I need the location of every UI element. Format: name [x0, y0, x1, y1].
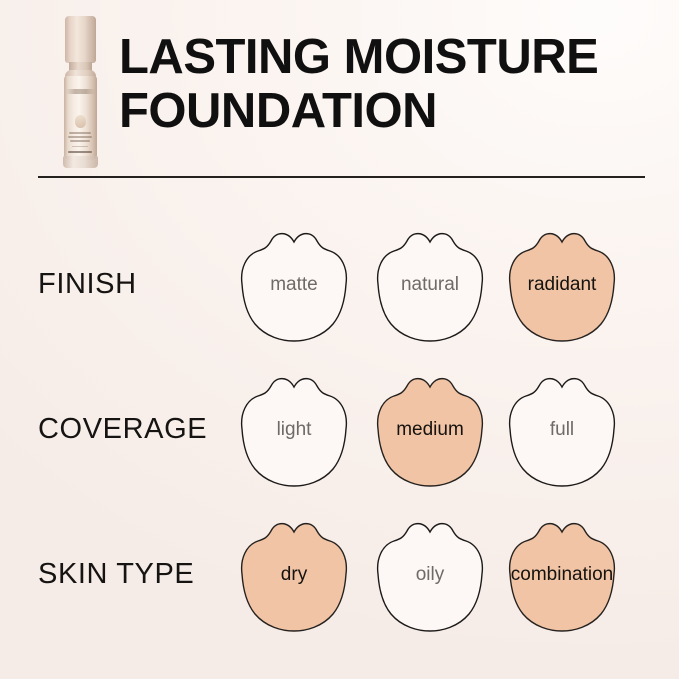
attribute-row-finish: FINISH matte natural radidant: [0, 212, 679, 357]
header: LASTING MOISTURE FOUNDATION: [0, 0, 679, 190]
option-group-finish: matte natural radidant: [238, 212, 679, 357]
product-attributes-infographic: LASTING MOISTURE FOUNDATION FINISH matte…: [0, 0, 679, 679]
header-divider: [38, 176, 645, 178]
bottle-cap: [65, 16, 96, 63]
option-label: combination: [492, 519, 632, 631]
option-skin-type-dry[interactable]: dry: [238, 519, 350, 631]
option-coverage-full[interactable]: full: [506, 374, 618, 486]
option-label: medium: [360, 374, 500, 486]
bottle-label-line: [69, 132, 91, 134]
option-group-coverage: light medium full: [238, 357, 679, 502]
bottle-label-line: [68, 136, 92, 138]
bottle-base: [63, 156, 98, 168]
bottle-seal-emblem: [75, 115, 86, 128]
option-label: natural: [360, 229, 500, 341]
row-label-finish: FINISH: [38, 212, 137, 357]
attribute-row-skin-type: SKIN TYPE dry oily combination: [0, 502, 679, 647]
option-label: oily: [360, 519, 500, 631]
option-coverage-medium[interactable]: medium: [374, 374, 486, 486]
option-label: radidant: [492, 229, 632, 341]
option-finish-natural[interactable]: natural: [374, 229, 486, 341]
bottle-label-line: [72, 146, 88, 147]
option-label: matte: [224, 229, 364, 341]
page-title: LASTING MOISTURE FOUNDATION: [119, 30, 664, 138]
option-skin-type-combination[interactable]: combination: [506, 519, 618, 631]
bottle-label-line: [68, 151, 92, 153]
option-label: dry: [224, 519, 364, 631]
row-label-coverage: COVERAGE: [38, 357, 207, 502]
foundation-bottle-image: [57, 16, 104, 168]
option-coverage-light[interactable]: light: [238, 374, 350, 486]
option-label: light: [224, 374, 364, 486]
option-label: full: [492, 374, 632, 486]
attribute-row-coverage: COVERAGE light medium full: [0, 357, 679, 502]
option-group-skin-type: dry oily combination: [238, 502, 679, 647]
row-label-skin-type: SKIN TYPE: [38, 502, 194, 647]
option-finish-matte[interactable]: matte: [238, 229, 350, 341]
page-title-line-1: LASTING MOISTURE: [119, 30, 598, 84]
option-skin-type-oily[interactable]: oily: [374, 519, 486, 631]
option-finish-radidant[interactable]: radidant: [506, 229, 618, 341]
bottle-brand-mark: [66, 89, 95, 94]
bottle-label-line: [70, 140, 90, 142]
page-title-line-2: FOUNDATION: [119, 84, 664, 138]
